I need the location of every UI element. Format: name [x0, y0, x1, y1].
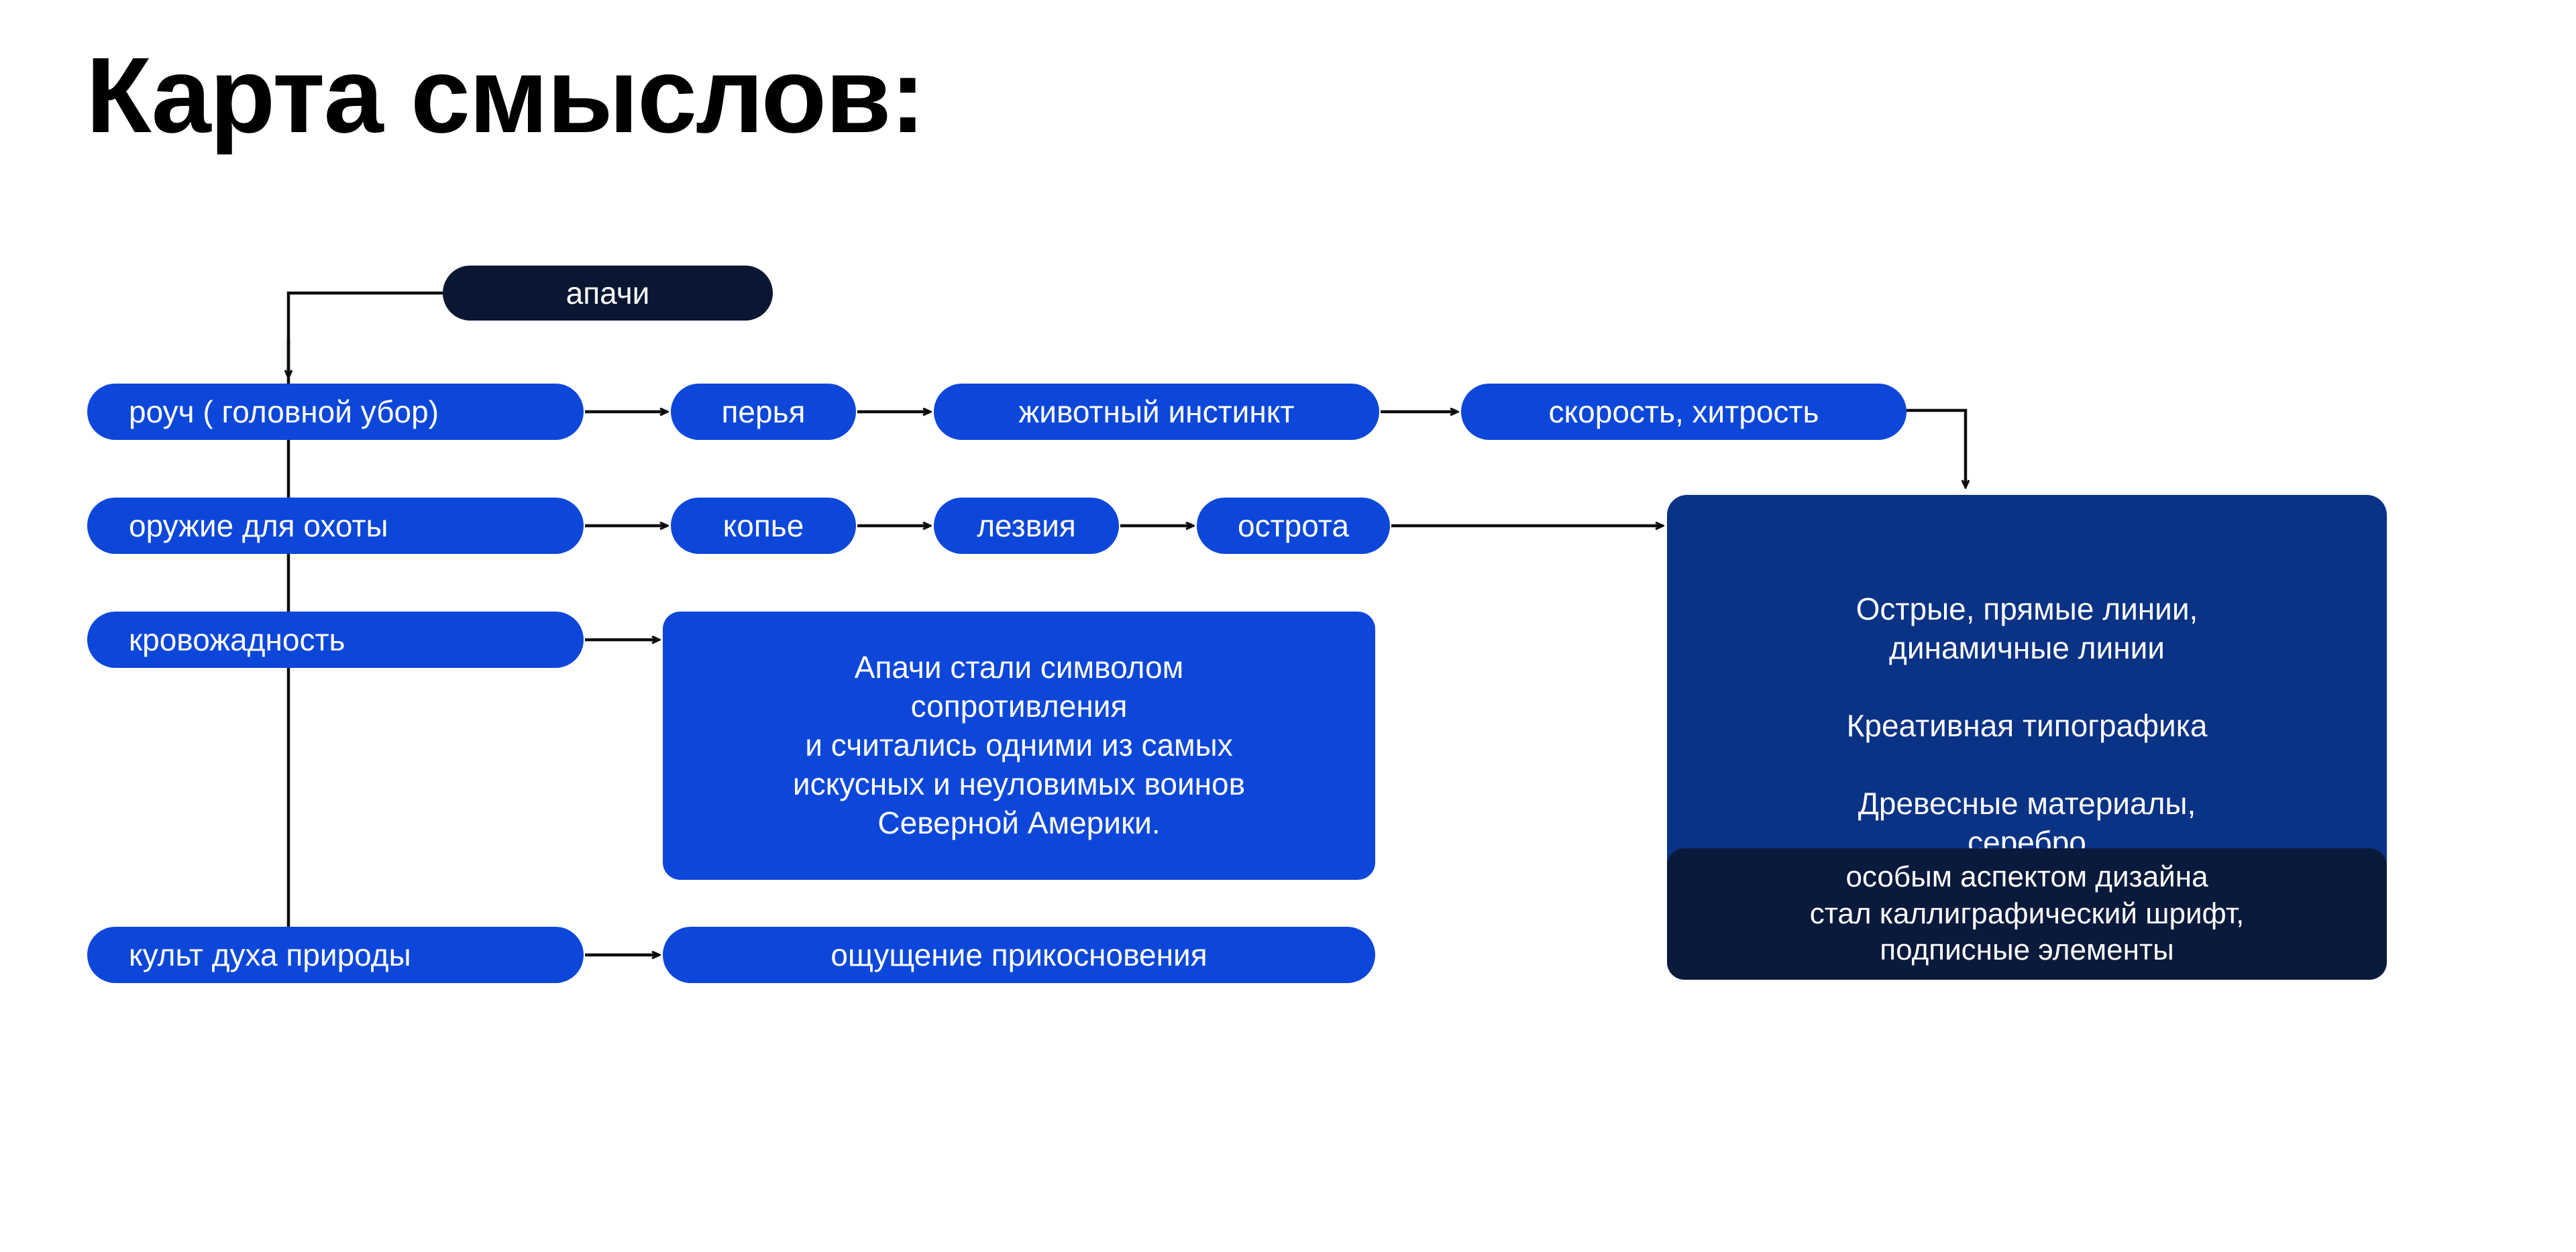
node-animal-instinct[interactable]: животный инстинкт	[934, 384, 1379, 440]
panel-line-sharp-lines: Острые, прямые линии, динамичные линии	[1698, 590, 2356, 668]
node-blades[interactable]: лезвия	[934, 498, 1119, 554]
node-nature-spirit-cult[interactable]: культ духа природы	[87, 927, 584, 983]
node-speed-cunning[interactable]: скорость, хитрость	[1461, 384, 1907, 440]
node-feathers[interactable]: перья	[671, 384, 856, 440]
node-sharpness[interactable]: острота	[1197, 498, 1390, 554]
node-spear[interactable]: копье	[671, 498, 856, 554]
slide-canvas: Карта смыслов: апачи роуч ( головной убо…	[0, 0, 2576, 1252]
node-bloodthirst[interactable]: кровожадность	[87, 612, 584, 668]
page-title: Карта смыслов:	[86, 42, 924, 149]
node-touch-sensation[interactable]: ощущение прикосновения	[663, 927, 1375, 983]
card-apachi-description: Апачи стали символом сопротивления и счи…	[663, 612, 1375, 880]
node-roach-headdress[interactable]: роуч ( головной убор)	[87, 384, 584, 440]
panel-calligraphy-text: особым аспектом дизайна стал каллиграфич…	[1810, 859, 2245, 969]
node-apachi[interactable]: апачи	[443, 266, 773, 321]
node-hunting-weapon[interactable]: оружие для охоты	[87, 498, 584, 554]
panel-calligraphy-note: особым аспектом дизайна стал каллиграфич…	[1667, 848, 2387, 980]
card-apachi-description-text: Апачи стали символом сопротивления и счи…	[793, 648, 1245, 843]
connector-speed-panel	[1904, 410, 1966, 487]
panel-line-typography: Креативная типографика	[1698, 707, 2356, 746]
